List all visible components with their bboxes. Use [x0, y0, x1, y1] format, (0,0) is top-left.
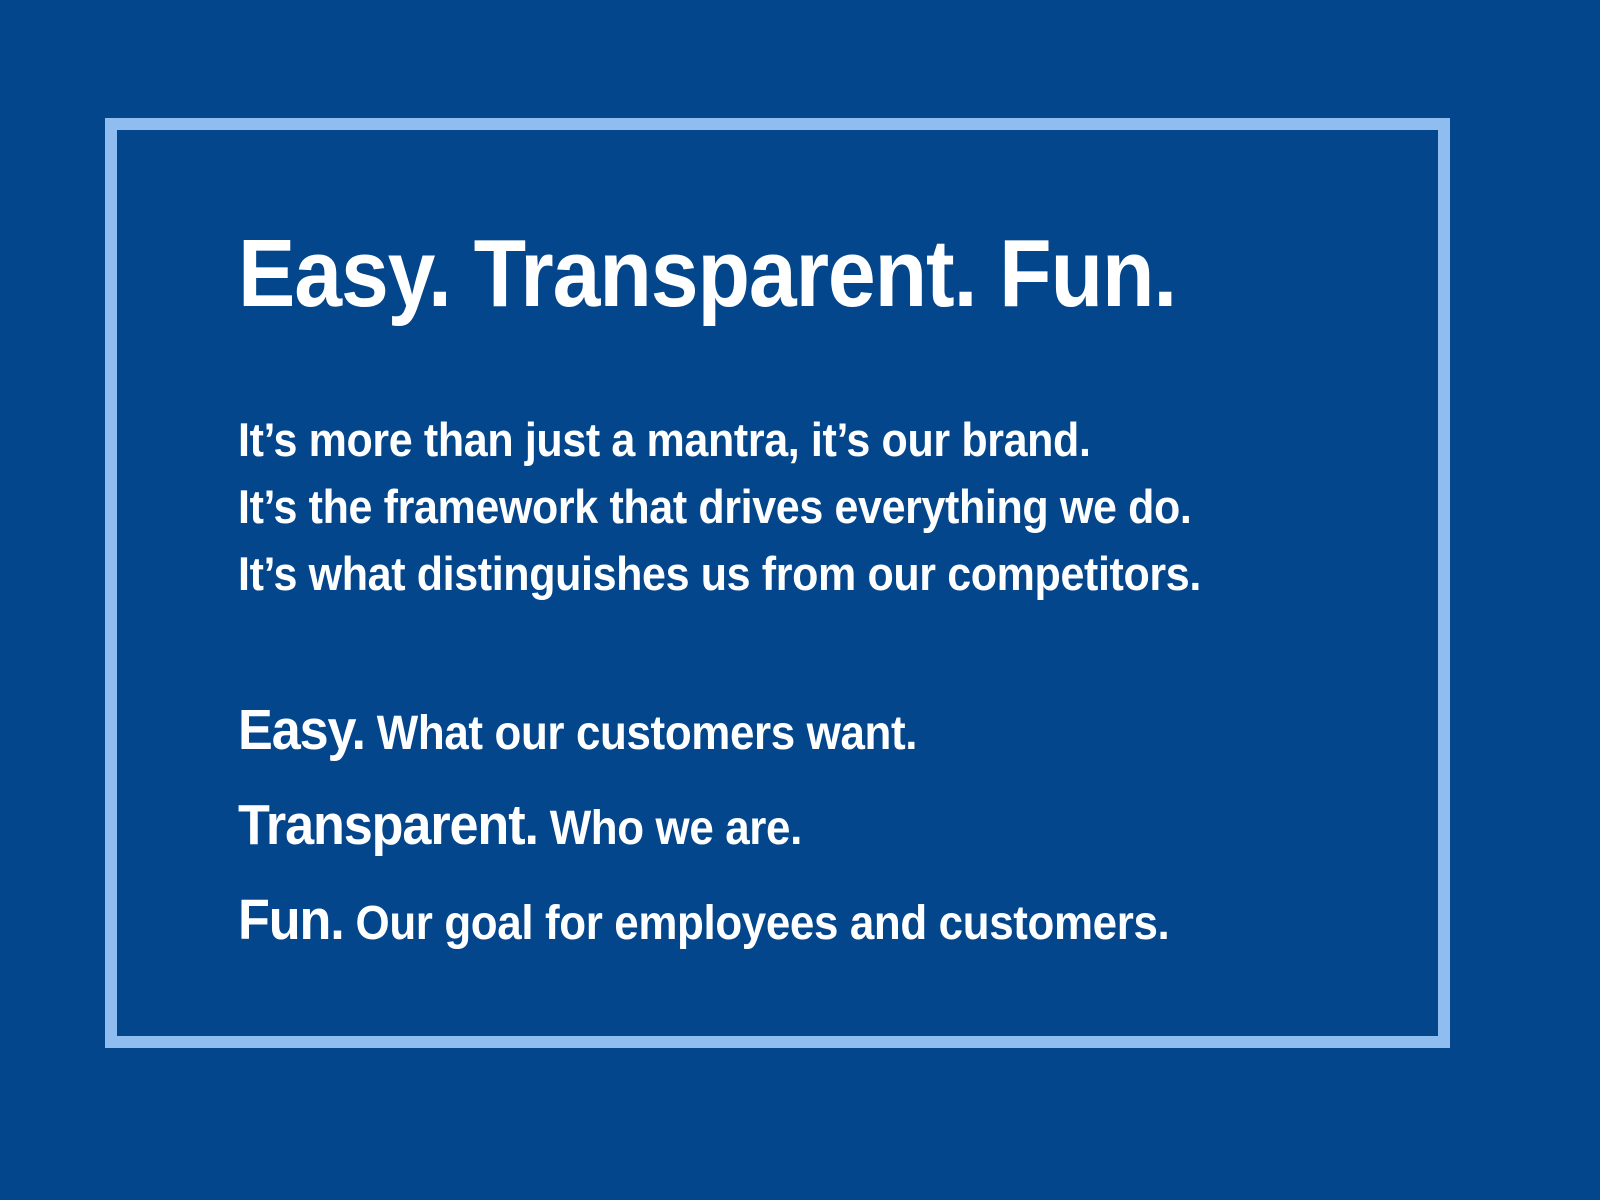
pillar-term: Easy. — [238, 698, 365, 762]
intro-paragraph: It’s more than just a mantra, it’s our b… — [238, 406, 1478, 607]
pillar-list: Easy. What our customers want. Transpare… — [238, 690, 1478, 975]
intro-line: It’s more than just a mantra, it’s our b… — [238, 406, 1373, 473]
intro-line: It’s what distinguishes us from our comp… — [238, 540, 1373, 607]
slide-content: Easy. Transparent. Fun. It’s more than j… — [238, 118, 1398, 1048]
pillar-item-easy: Easy. What our customers want. — [238, 690, 1373, 785]
pillar-item-fun: Fun. Our goal for employees and customer… — [238, 880, 1373, 975]
brand-mantra-slide: Easy. Transparent. Fun. It’s more than j… — [0, 0, 1600, 1200]
pillar-term: Transparent. — [238, 793, 538, 857]
pillar-item-transparent: Transparent. Who we are. — [238, 785, 1373, 880]
pillar-description: What our customers want. — [365, 707, 917, 760]
pillar-term: Fun. — [238, 888, 344, 952]
intro-line: It’s the framework that drives everythin… — [238, 473, 1373, 540]
pillar-description: Our goal for employees and customers. — [344, 897, 1170, 950]
page-title: Easy. Transparent. Fun. — [238, 226, 1176, 322]
pillar-description: Who we are. — [538, 802, 802, 855]
